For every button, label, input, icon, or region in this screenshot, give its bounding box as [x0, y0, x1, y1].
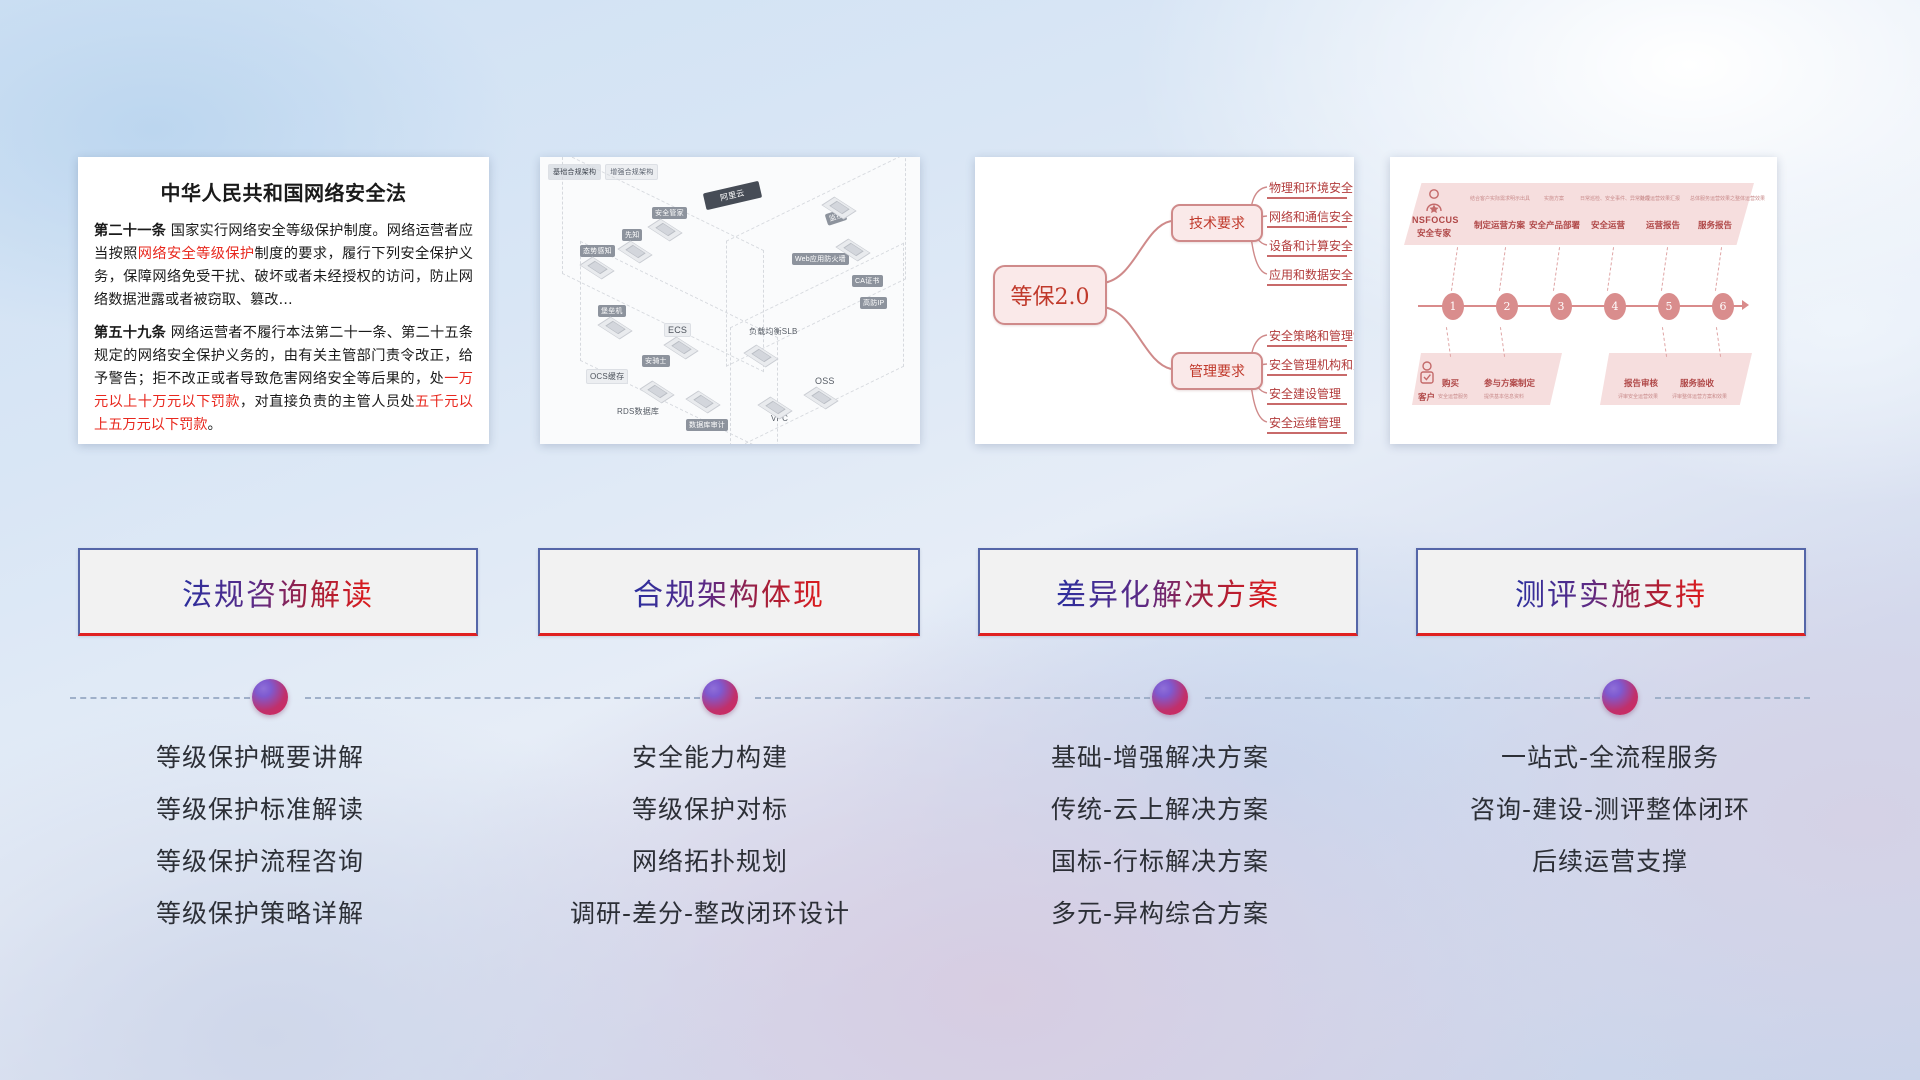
- mindmap-leaf-tech-2: 网络和通信安全: [1269, 208, 1353, 225]
- mindmap-leaf-mgmt-3: 安全建设管理: [1269, 385, 1341, 402]
- law-article-59: 第五十九条 网络运营者不履行本法第二十一条、第二十五条规定的网络安全保护义务的，…: [94, 322, 473, 437]
- heading-label-3: 差异化解决方案: [1056, 570, 1280, 614]
- card-architecture-diagram[interactable]: 基础合规架构 增强合规架构 阿里云 安全管家 先知 态势感知 监控 Web应用防…: [540, 157, 920, 444]
- arch-label-anqishi: 安骑士: [642, 355, 670, 367]
- card-nsfocus-timeline[interactable]: NSFOCUS 安全专家 结合客户实际需求明示出具 制定运营方案 实施方案 安全…: [1390, 157, 1777, 444]
- heading-box-regulation-consulting[interactable]: 法规咨询解读: [78, 548, 478, 636]
- law-article-21-highlight: 网络安全等级保护: [138, 246, 255, 262]
- arch-node-security-steward: [652, 217, 686, 237]
- slide-stage: 中华人民共和国网络安全法 第二十一条 国家实行网络安全等级保护制度。网络运营者应…: [0, 0, 1920, 1080]
- nsfocus-upline-6: [1716, 327, 1721, 357]
- arch-node-slb: [748, 343, 782, 363]
- law-title: 中华人民共和国网络安全法: [94, 177, 473, 206]
- nsfocus-step1-title: 制定运营方案: [1474, 219, 1525, 231]
- mindmap-branch-technical[interactable]: 技术要求: [1171, 204, 1263, 242]
- nsfocus-upline-1: [1446, 327, 1451, 357]
- heading-box-compliance-architecture[interactable]: 合规架构体现: [538, 548, 920, 636]
- arch-node-waf: [840, 237, 874, 257]
- mindmap-underline-tech-3: [1267, 255, 1347, 257]
- nsfocus-dropline-3: [1553, 247, 1560, 291]
- mindmap-leaf-tech-1: 物理和环境安全: [1269, 179, 1353, 196]
- card-mindmap[interactable]: 等保2.0 技术要求 管理要求 物理和环境安全 网络和通信安全 设备和计算安全 …: [975, 157, 1354, 444]
- mindmap-leaf-tech-3: 设备和计算安全: [1269, 237, 1353, 254]
- nsfocus-step3-title: 安全运营: [1591, 219, 1625, 231]
- mindmap-leaf-mgmt-2: 安全管理机构和人员: [1269, 356, 1354, 373]
- arch-node-xianzhi: [622, 239, 656, 259]
- timeline-rule-segment-5: [1655, 697, 1810, 699]
- timeline-dot-1[interactable]: [252, 679, 288, 715]
- nsfocus-dropline-6: [1715, 247, 1722, 291]
- nsfocus-upline-5: [1662, 327, 1667, 357]
- list-item: 安全能力构建: [490, 745, 930, 770]
- nsfocus-customer-role-label: 客户: [1418, 391, 1435, 403]
- nsfocus-dropline-5: [1661, 247, 1668, 291]
- nsfocus-dropline-2: [1499, 247, 1506, 291]
- nsfocus-brand-label: NSFOCUS: [1412, 215, 1459, 225]
- nsfocus-node-3[interactable]: 3: [1550, 293, 1572, 320]
- arch-label-ocs-cache: OCS缓存: [586, 369, 628, 384]
- nsfocus-upline-2: [1500, 327, 1505, 357]
- nsfocus-node-1[interactable]: 1: [1442, 293, 1464, 320]
- mindmap-underline-tech-4: [1267, 284, 1347, 286]
- nsfocus-timeline-arrow-icon: [1742, 300, 1749, 310]
- nsfocus-step2-title: 安全产品部署: [1529, 219, 1580, 231]
- nsfocus-bottom2-note: 提供基本信息资料: [1484, 393, 1524, 400]
- list-item: 多元-异构综合方案: [940, 901, 1380, 926]
- list-item: 基础-增强解决方案: [940, 745, 1380, 770]
- nsfocus-bottom3-note: 评审安全运营效果: [1618, 393, 1658, 400]
- architecture-canvas: 基础合规架构 增强合规架构 阿里云 安全管家 先知 态势感知 监控 Web应用防…: [540, 157, 920, 444]
- customer-person-icon: [1418, 361, 1436, 385]
- arch-node-oss: [808, 385, 842, 405]
- list-item: 咨询-建设-测评整体闭环: [1390, 797, 1830, 822]
- arch-node-rds: [690, 389, 724, 409]
- mindmap-underline-mgmt-4: [1267, 432, 1347, 434]
- timeline-rule-segment-3: [755, 697, 1150, 699]
- expert-person-icon: [1424, 189, 1444, 213]
- list-item: 一站式-全流程服务: [1390, 745, 1830, 770]
- law-document-body: 中华人民共和国网络安全法 第二十一条 国家实行网络安全等级保护制度。网络运营者应…: [78, 157, 489, 444]
- nsfocus-node-2[interactable]: 2: [1496, 293, 1518, 320]
- nsfocus-bottom4-title: 服务验收: [1680, 377, 1714, 389]
- feature-column-4: 一站式-全流程服务 咨询-建设-测评整体闭环 后续运营支撑: [1390, 745, 1830, 901]
- list-item: 传统-云上解决方案: [940, 797, 1380, 822]
- nsfocus-step4-title: 运营报告: [1646, 219, 1680, 231]
- arch-node-monitor: [826, 195, 860, 215]
- list-item: 等级保护概要讲解: [40, 745, 480, 770]
- timeline-dot-3[interactable]: [1152, 679, 1188, 715]
- arch-label-slb: 负载均衡SLB: [746, 325, 801, 338]
- mindmap-branch-management[interactable]: 管理要求: [1171, 352, 1263, 390]
- nsfocus-bottom4-note: 评审整体运营方案和效果: [1672, 393, 1727, 400]
- mindmap-underline-mgmt-2: [1267, 374, 1347, 376]
- heading-label-2: 合规架构体现: [633, 570, 825, 614]
- nsfocus-bottom1-note: 安全运营服务: [1438, 393, 1468, 400]
- timeline-dot-4[interactable]: [1602, 679, 1638, 715]
- timeline-dot-2[interactable]: [702, 679, 738, 715]
- nsfocus-step1-note: 结合客户实际需求明示出具: [1470, 195, 1530, 202]
- nsfocus-node-5[interactable]: 5: [1658, 293, 1680, 320]
- list-item: 等级保护策略详解: [40, 901, 480, 926]
- arch-node-ecs: [668, 335, 702, 355]
- mindmap-underline-mgmt-1: [1267, 345, 1347, 347]
- timeline-rule-segment-1: [70, 697, 250, 699]
- mindmap-canvas: 等保2.0 技术要求 管理要求 物理和环境安全 网络和通信安全 设备和计算安全 …: [975, 157, 1354, 444]
- law-article-59-text-c: 。: [208, 417, 222, 433]
- nsfocus-step5-note: 总体服务运营效果之整体运营效果: [1690, 195, 1765, 202]
- nsfocus-canvas: NSFOCUS 安全专家 结合客户实际需求明示出具 制定运营方案 实施方案 安全…: [1390, 157, 1777, 444]
- nsfocus-dropline-4: [1607, 247, 1614, 291]
- feature-column-3: 基础-增强解决方案 传统-云上解决方案 国标-行标解决方案 多元-异构综合方案: [940, 745, 1380, 953]
- nsfocus-node-4[interactable]: 4: [1604, 293, 1626, 320]
- law-article-59-text-b: ，对直接负责的主管人员处: [240, 394, 415, 410]
- arch-label-db-audit: 数据库审计: [686, 419, 728, 431]
- feature-column-1: 等级保护概要讲解 等级保护标准解读 等级保护流程咨询 等级保护策略详解: [40, 745, 480, 953]
- timeline-rule-segment-2: [305, 697, 700, 699]
- mindmap-leaf-tech-4: 应用和数据安全: [1269, 266, 1353, 283]
- mindmap-leaf-mgmt-1: 安全策略和管理制度: [1269, 327, 1354, 344]
- list-item: 后续运营支撑: [1390, 849, 1830, 874]
- law-article-59-label: 第五十九条: [94, 325, 166, 341]
- nsfocus-node-6[interactable]: 6: [1712, 293, 1734, 320]
- heading-box-differentiated-solution[interactable]: 差异化解决方案: [978, 548, 1358, 636]
- mindmap-root-node[interactable]: 等保2.0: [993, 265, 1107, 325]
- law-article-21: 第二十一条 国家实行网络安全等级保护制度。网络运营者应当按照网络安全等级保护制度…: [94, 220, 473, 312]
- list-item: 调研-差分-整改闭环设计: [490, 901, 930, 926]
- list-item: 国标-行标解决方案: [940, 849, 1380, 874]
- arch-node-ocs: [644, 379, 678, 399]
- heading-box-assessment-support[interactable]: 测评实施支持: [1416, 548, 1806, 636]
- card-law-document[interactable]: 中华人民共和国网络安全法 第二十一条 国家实行网络安全等级保护制度。网络运营者应…: [78, 157, 489, 444]
- nsfocus-bottom3-title: 报告审核: [1624, 377, 1658, 389]
- nsfocus-step5-title: 服务报告: [1698, 219, 1732, 231]
- arch-label-rds: RDS数据库: [614, 405, 662, 418]
- heading-label-1: 法规咨询解读: [182, 570, 374, 614]
- feature-column-2: 安全能力构建 等级保护对标 网络拓扑规划 调研-差分-整改闭环设计: [490, 745, 930, 953]
- list-item: 等级保护对标: [490, 797, 930, 822]
- mindmap-underline-tech-1: [1267, 197, 1347, 199]
- timeline-rule-segment-4: [1205, 697, 1600, 699]
- nsfocus-dropline-1: [1451, 247, 1458, 291]
- arch-label-cloud: 阿里云: [703, 181, 762, 210]
- mindmap-leaf-mgmt-4: 安全运维管理: [1269, 414, 1341, 431]
- nsfocus-step4-note: 阶段运营效果汇报: [1640, 195, 1680, 202]
- nsfocus-timeline-axis: [1418, 305, 1746, 307]
- arch-node-bastion-host: [602, 315, 636, 335]
- list-item: 等级保护标准解读: [40, 797, 480, 822]
- arch-node-vpc: [762, 395, 796, 415]
- nsfocus-bottom1-title: 购买: [1442, 377, 1459, 389]
- mindmap-underline-mgmt-3: [1267, 403, 1347, 405]
- heading-label-4: 测评实施支持: [1515, 570, 1707, 614]
- list-item: 网络拓扑规划: [490, 849, 930, 874]
- arch-label-ca-cert: CA证书: [852, 275, 883, 287]
- arch-label-anti-ddos: 高防IP: [860, 297, 887, 309]
- law-article-21-label: 第二十一条: [94, 223, 166, 239]
- nsfocus-expert-role-label: 安全专家: [1417, 227, 1451, 239]
- nsfocus-step2-note: 实施方案: [1544, 195, 1564, 202]
- list-item: 等级保护流程咨询: [40, 849, 480, 874]
- nsfocus-expert-banner: [1404, 183, 1754, 245]
- arch-node-situational-awareness: [584, 255, 618, 275]
- mindmap-underline-tech-2: [1267, 226, 1347, 228]
- nsfocus-bottom2-title: 参与方案制定: [1484, 377, 1535, 389]
